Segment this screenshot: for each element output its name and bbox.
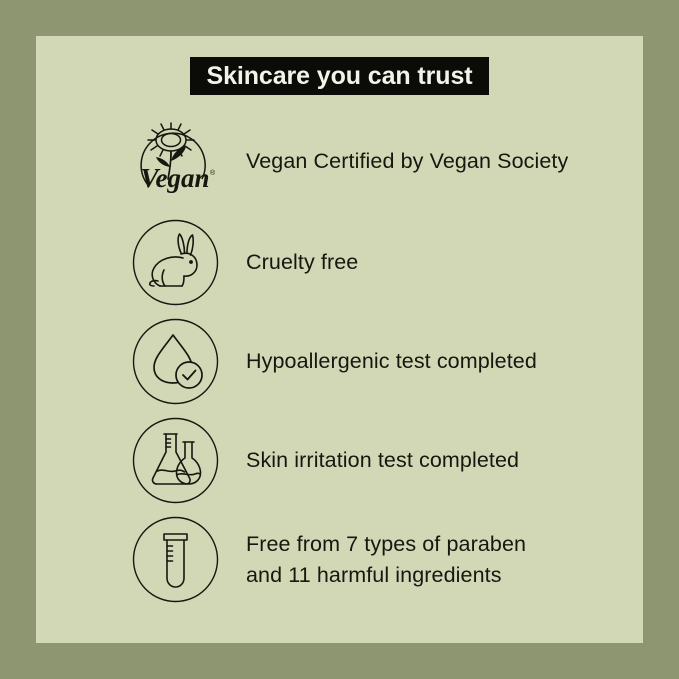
test-tube-icon xyxy=(131,515,220,604)
claim-line: and 11 harmful ingredients xyxy=(246,560,646,591)
skincare-trust-poster: Skincare you can trust xyxy=(0,0,679,679)
claim-line: Hypoallergenic test completed xyxy=(246,346,646,377)
svg-text:®: ® xyxy=(210,169,216,177)
vegan-society-logo-icon: Vegan ® xyxy=(128,117,224,209)
claim-label-skin-irritation: Skin irritation test completed xyxy=(246,416,646,505)
claim-label-hypoallergenic: Hypoallergenic test completed xyxy=(246,317,646,406)
claim-line: Cruelty free xyxy=(246,247,646,278)
page-title: Skincare you can trust xyxy=(207,64,473,89)
claim-line: Vegan Certified by Vegan Society xyxy=(246,146,646,177)
vegan-wordmark: Vegan xyxy=(140,163,209,193)
claim-row-free-from: Free from 7 types of paraben and 11 harm… xyxy=(0,515,679,607)
claim-line: Skin irritation test completed xyxy=(246,445,646,476)
lab-flasks-icon xyxy=(131,416,220,505)
page-title-bar: Skincare you can trust xyxy=(190,57,489,95)
claim-row-hypoallergenic: Hypoallergenic test completed xyxy=(0,317,679,409)
claim-row-cruelty-free: Cruelty free xyxy=(0,218,679,310)
claim-row-skin-irritation: Skin irritation test completed xyxy=(0,416,679,508)
claim-row-vegan: Vegan ® Vegan Certified by Vegan Society xyxy=(0,117,679,209)
claim-label-cruelty-free: Cruelty free xyxy=(246,218,646,307)
rabbit-icon xyxy=(131,218,220,307)
claim-label-vegan: Vegan Certified by Vegan Society xyxy=(246,117,646,206)
water-drop-check-icon xyxy=(131,317,220,406)
claim-label-free-from: Free from 7 types of paraben and 11 harm… xyxy=(246,515,646,604)
claim-line: Free from 7 types of paraben xyxy=(246,529,646,560)
